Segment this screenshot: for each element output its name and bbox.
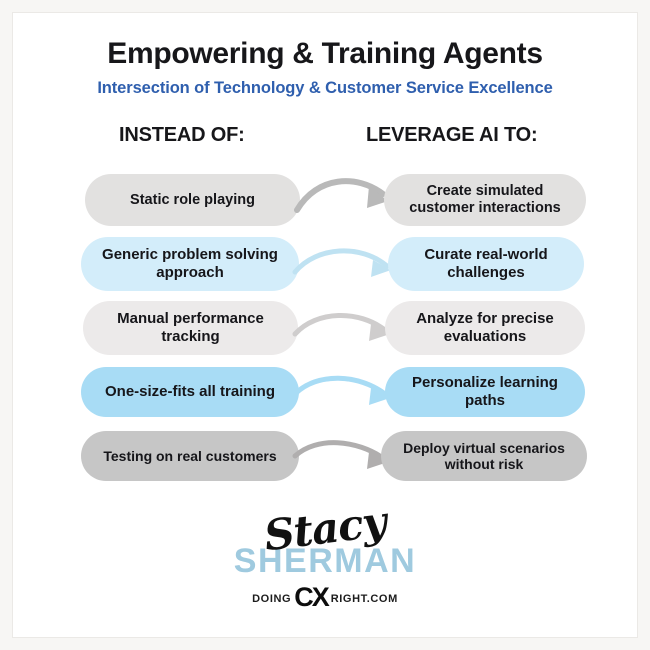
- instead-of-pill: Generic problem solving approach: [81, 237, 299, 291]
- tagline-doing: DOING: [252, 593, 291, 605]
- comparison-row: Generic problem solving approach Curate …: [13, 234, 639, 300]
- instead-of-pill: One-size-fits all training: [81, 367, 299, 417]
- leverage-ai-pill: Analyze for precise evaluations: [385, 301, 585, 355]
- leverage-ai-pill: Create simulated customer interactions: [384, 174, 586, 226]
- column-header-leverage-ai: LEVERAGE AI TO:: [366, 124, 537, 147]
- comparison-row: Manual performance tracking Analyze for …: [13, 298, 639, 364]
- logo-tagline: DOING CX RIGHT.COM: [13, 585, 637, 612]
- brand-logo: Stacy SHERMAN DOING CX RIGHT.COM: [13, 504, 637, 614]
- comparison-row: Static role playing Create simulated cus…: [13, 170, 639, 236]
- header-block: Empowering & Training Agents Intersectio…: [13, 13, 637, 97]
- infographic-card: Empowering & Training Agents Intersectio…: [12, 12, 638, 638]
- instead-of-pill: Testing on real customers: [81, 431, 299, 481]
- leverage-ai-pill: Personalize learning paths: [385, 367, 585, 417]
- instead-of-pill: Manual performance tracking: [83, 301, 298, 355]
- page-subtitle: Intersection of Technology & Customer Se…: [13, 79, 637, 98]
- comparison-rows: Static role playing Create simulated cus…: [13, 170, 637, 490]
- tagline-cx-mark: CX: [294, 584, 328, 611]
- instead-of-pill: Static role playing: [85, 174, 300, 226]
- column-header-instead-of: INSTEAD OF:: [119, 124, 245, 147]
- column-headers: INSTEAD OF: LEVERAGE AI TO:: [13, 124, 637, 154]
- comparison-row: One-size-fits all training Personalize l…: [13, 362, 639, 428]
- tagline-right-dot-com: RIGHT.COM: [331, 593, 398, 605]
- leverage-ai-pill: Deploy virtual scenarios without risk: [381, 431, 587, 481]
- page-title: Empowering & Training Agents: [13, 37, 637, 72]
- leverage-ai-pill: Curate real-world challenges: [388, 237, 584, 291]
